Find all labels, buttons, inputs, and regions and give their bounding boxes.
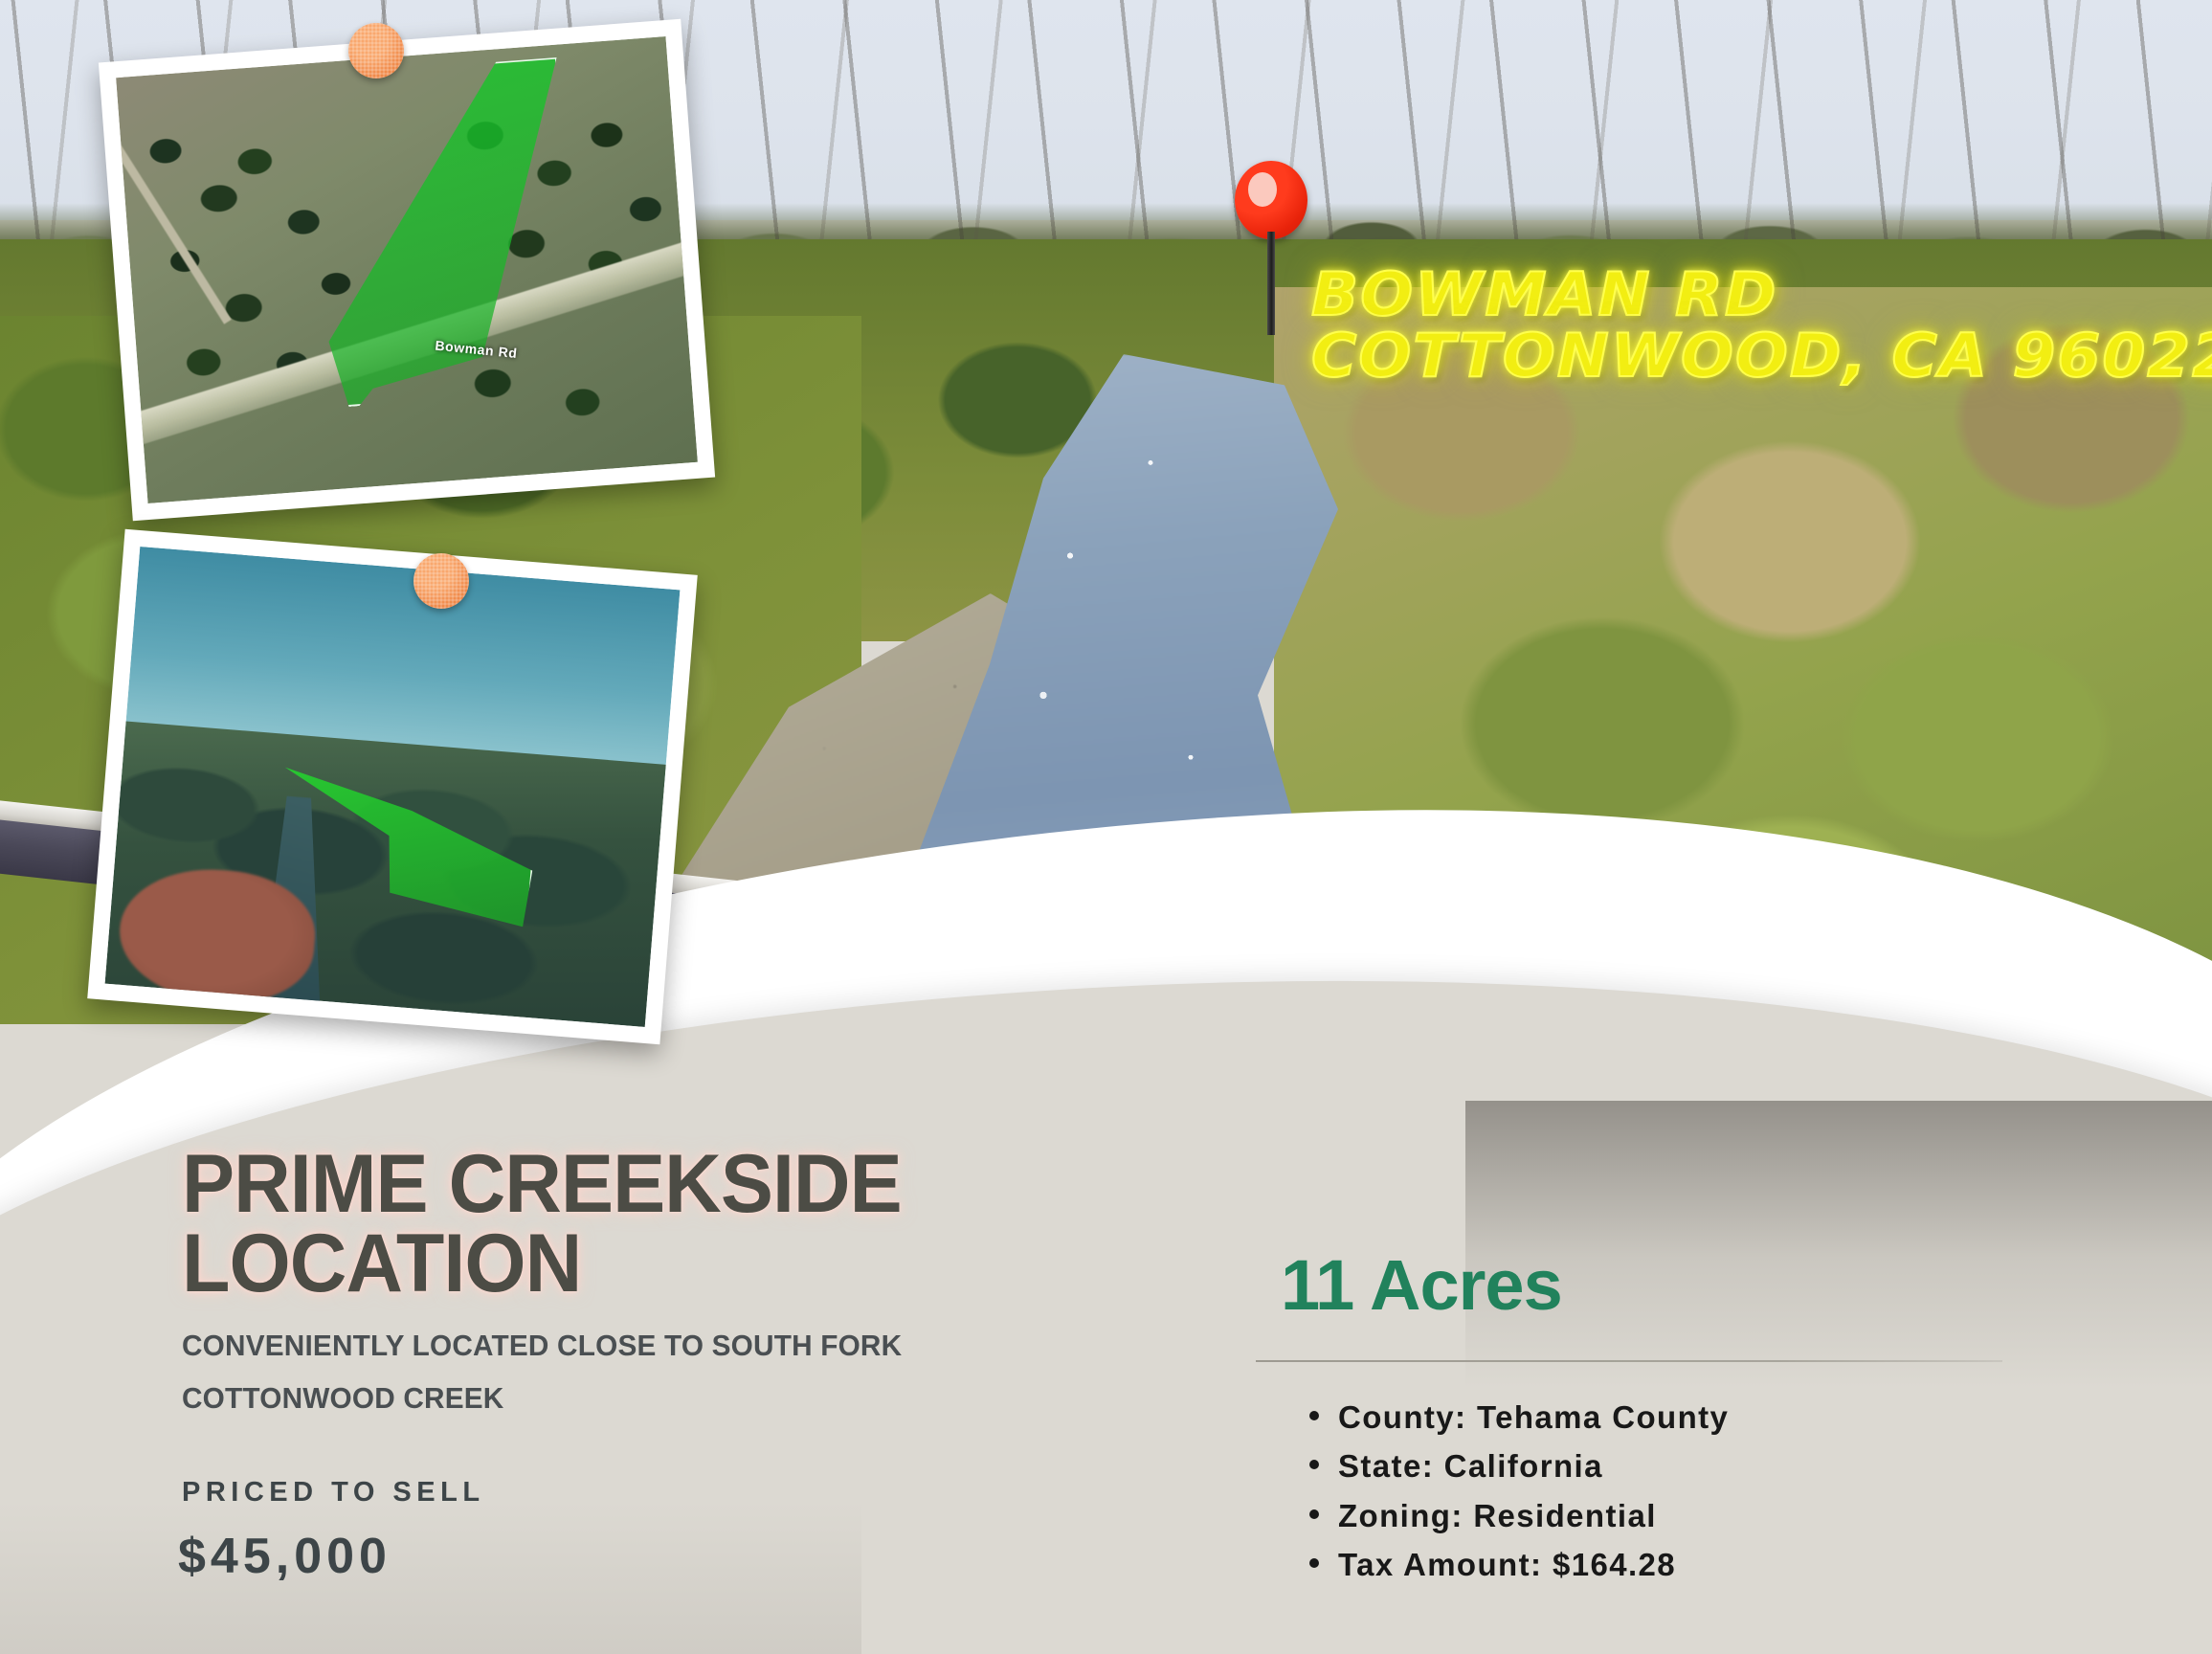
list-item: Zoning: Residential: [1338, 1491, 2123, 1540]
list-item: County: Tehama County: [1338, 1393, 2123, 1442]
priced-to-sell-label: PRICED TO SELL: [182, 1477, 485, 1509]
listing-flyer: BOWMAN RD COTTONWOOD, CA 96022 Bowman Rd: [0, 0, 2212, 1654]
address-line-2: COTTONWOOD, CA 96022: [1311, 325, 2212, 387]
headline-line-2: LOCATION: [182, 1224, 1083, 1304]
headline-line-1: PRIME CREEKSIDE: [182, 1145, 1083, 1224]
orange-pin-dot-icon: [348, 23, 404, 78]
property-details-list: County: Tehama County State: California …: [1302, 1393, 2123, 1590]
orange-pin-dot-icon: [413, 553, 469, 609]
terrain-3d-view: [105, 547, 681, 1027]
map-pin-icon: [1235, 161, 1311, 333]
subheadline-line-2: COTTONWOOD CREEK: [182, 1372, 1064, 1424]
page-title: PRIME CREEKSIDE LOCATION: [182, 1145, 1083, 1303]
price-value: $45,000: [178, 1528, 391, 1585]
subheadline-line-1: CONVENIENTLY LOCATED CLOSE TO SOUTH FORK: [182, 1319, 1064, 1372]
inset-photo-3d-terrain[interactable]: [87, 529, 698, 1045]
map-pin-head: [1235, 161, 1307, 239]
details-divider: [1256, 1360, 2002, 1362]
map-pin-highlight: [1248, 172, 1277, 207]
map-pin-stem: [1267, 232, 1275, 335]
list-item: Tax Amount: $164.28: [1338, 1540, 2123, 1589]
list-item: State: California: [1338, 1442, 2123, 1490]
inset-photo-terrain-frame: [105, 547, 681, 1027]
property-address: BOWMAN RD COTTONWOOD, CA 96022: [1311, 264, 2212, 387]
inset-photo-aerial-frame: Bowman Rd: [116, 36, 698, 503]
address-line-1: BOWMAN RD: [1311, 264, 2212, 325]
subheadline: CONVENIENTLY LOCATED CLOSE TO SOUTH FORK…: [182, 1319, 1064, 1424]
acreage-value: 11 Acres: [1281, 1244, 1562, 1326]
inset-photo-aerial-parcel[interactable]: Bowman Rd: [99, 19, 715, 521]
